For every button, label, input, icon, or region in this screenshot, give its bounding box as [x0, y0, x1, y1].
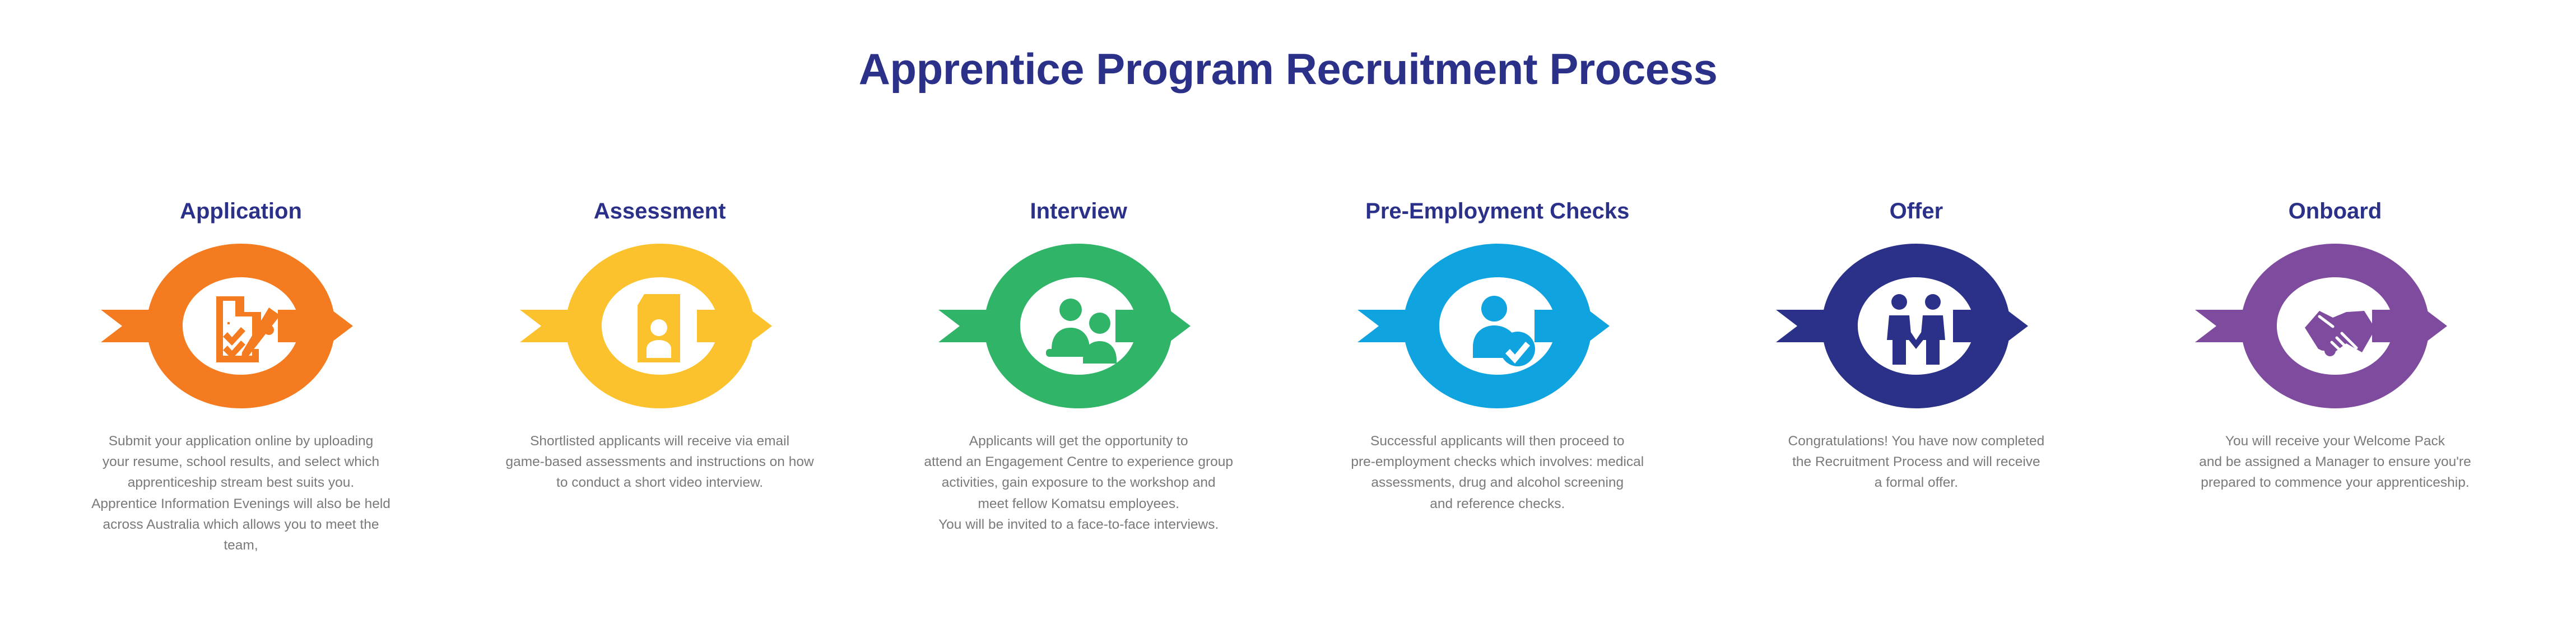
- process-step-pre-employment-checks[interactable]: Pre-Employment Checks Succe: [1301, 199, 1694, 514]
- step-circle-arrow-graphic: [503, 234, 817, 418]
- page-title: Apprentice Program Recruitment Process: [0, 47, 2576, 91]
- step-heading: Onboard: [2289, 199, 2382, 226]
- step-heading: Pre-Employment Checks: [1365, 199, 1629, 226]
- circular-arrow-ring: [101, 244, 353, 408]
- two-people-icon: [1046, 299, 1117, 364]
- step-circle-arrow-graphic: [84, 234, 398, 418]
- step-body-text: Shortlisted applicants will receive via …: [503, 431, 817, 493]
- step-heading: Application: [180, 199, 302, 226]
- process-step-offer[interactable]: Offer Congratu: [1720, 199, 2112, 493]
- step-heading: Assessment: [594, 199, 726, 226]
- two-people-handshake-icon: [1887, 294, 1945, 365]
- step-body-text: Submit your application online by upload…: [84, 431, 398, 556]
- process-step-interview[interactable]: Interview Appl: [882, 199, 1275, 535]
- step-body-text: Applicants will get the opportunity to a…: [922, 431, 1235, 535]
- step-heading: Offer: [1890, 199, 1943, 226]
- step-circle-arrow-graphic: [1759, 234, 2073, 418]
- step-circle-arrow-graphic: [1341, 234, 1654, 418]
- step-circle-arrow-graphic: [2178, 234, 2492, 418]
- circular-arrow-ring: [938, 244, 1191, 408]
- person-with-checkmark-icon: [1473, 296, 1535, 366]
- resume-profile-document-icon: [638, 294, 680, 362]
- process-step-assessment[interactable]: Assessment Shortlisted applicants will r: [464, 199, 856, 493]
- infographic-canvas: Apprentice Program Recruitment Process A…: [0, 0, 2576, 638]
- circular-arrow-ring: [1357, 244, 1610, 408]
- step-body-text: You will receive your Welcome Pack and b…: [2178, 431, 2492, 493]
- process-step-application[interactable]: Application: [45, 199, 437, 556]
- handshake-icon: [2305, 311, 2375, 357]
- document-with-pen-icon: [216, 296, 280, 362]
- process-step-onboard[interactable]: Onboard: [2139, 199, 2531, 493]
- process-steps-row: Application: [0, 199, 2576, 638]
- step-circle-arrow-graphic: [922, 234, 1235, 418]
- step-body-text: Successful applicants will then proceed …: [1341, 431, 1654, 514]
- step-heading: Interview: [1030, 199, 1127, 226]
- step-body-text: Congratulations! You have now completed …: [1759, 431, 2073, 493]
